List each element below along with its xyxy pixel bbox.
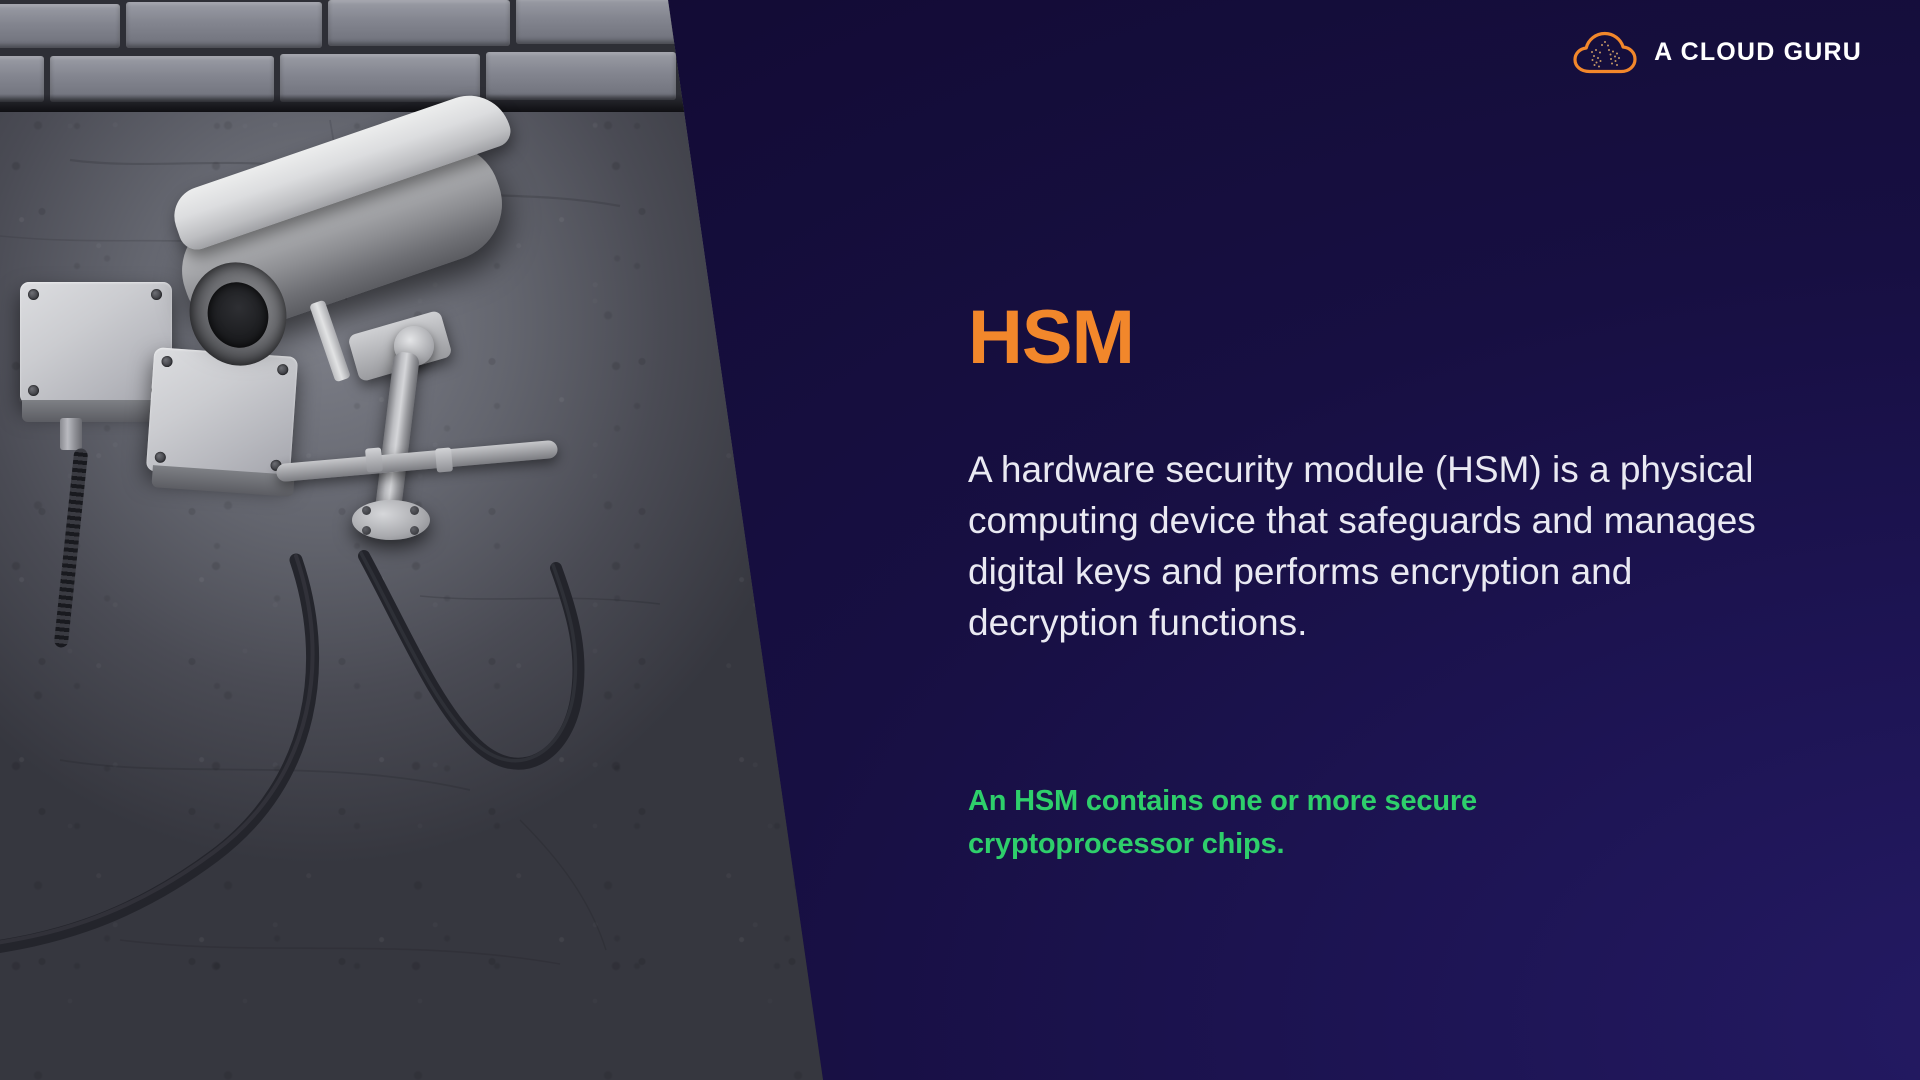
body-paragraph: A hardware security module (HSM) is a ph…: [968, 444, 1758, 648]
highlight-note: An HSM contains one or more secure crypt…: [968, 780, 1608, 866]
cloud-icon: [1572, 28, 1638, 76]
slide-content: HSM A hardware security module (HSM) is …: [968, 0, 1788, 1080]
logo-wordmark: A CLOUD GURU: [1654, 38, 1862, 67]
slide-root: HSM A hardware security module (HSM) is …: [0, 0, 1920, 1080]
page-title: HSM: [968, 300, 1134, 376]
brand-logo: A CLOUD GURU: [1572, 28, 1862, 76]
